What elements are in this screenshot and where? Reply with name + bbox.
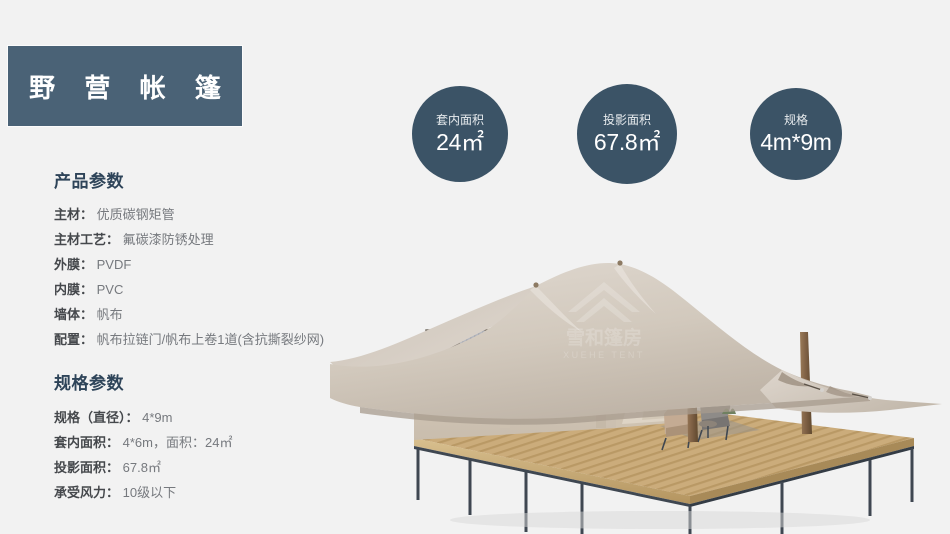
spec-value: 4*9m xyxy=(142,410,172,425)
spec-key: 外膜： xyxy=(54,257,93,272)
spec-key: 套内面积： xyxy=(54,435,119,450)
spec-value: 帆布拉链门/帆布上卷1道(含抗撕裂纱网) xyxy=(97,332,325,347)
spec-value: 氟碳漆防锈处理 xyxy=(123,232,214,247)
badge-projected-area[interactable]: 投影面积 67.8㎡ xyxy=(577,84,677,184)
spec-key: 内膜： xyxy=(54,282,93,297)
badge-value: 67.8㎡ xyxy=(594,130,660,154)
badge-dimensions[interactable]: 规格 4m*9m xyxy=(750,88,842,180)
page-title-banner: 野 营 帐 篷 xyxy=(8,46,242,126)
spec-key: 承受风力： xyxy=(54,485,119,500)
spec-key: 配置： xyxy=(54,332,93,347)
spec-key: 墙体： xyxy=(54,307,93,322)
spec-value: 优质碳钢矩管 xyxy=(97,207,175,222)
spec-key: 规格（直径）： xyxy=(54,410,139,425)
badge-interior-area[interactable]: 套内面积 24㎡ xyxy=(412,86,508,182)
spec-key: 主材工艺： xyxy=(54,232,119,247)
badge-label: 套内面积 xyxy=(436,114,484,127)
spec-value: 4*6m，面积：24㎡ xyxy=(123,435,233,450)
spec-value: PVDF xyxy=(97,257,132,272)
spec-key: 主材： xyxy=(54,207,93,222)
ground-shadow xyxy=(450,511,870,529)
spec-value: 67.8㎡ xyxy=(123,460,161,475)
spec-value: 帆布 xyxy=(97,307,123,322)
spec-value: 10级以下 xyxy=(123,485,176,500)
watermark-cn-text: 雪和篷房 xyxy=(566,326,642,349)
page-title: 野 营 帐 篷 xyxy=(18,68,232,105)
badge-value: 4m*9m xyxy=(760,130,831,154)
spec-value: PVC xyxy=(97,282,124,297)
badge-label: 规格 xyxy=(784,114,808,127)
badge-value: 24㎡ xyxy=(436,130,484,154)
watermark-en-text: XUEHE TENT xyxy=(563,350,645,360)
spec-key: 投影面积： xyxy=(54,460,119,475)
badge-label: 投影面积 xyxy=(603,114,651,127)
tent-illustration: 雪和篷房 XUEHE TENT xyxy=(330,190,950,534)
